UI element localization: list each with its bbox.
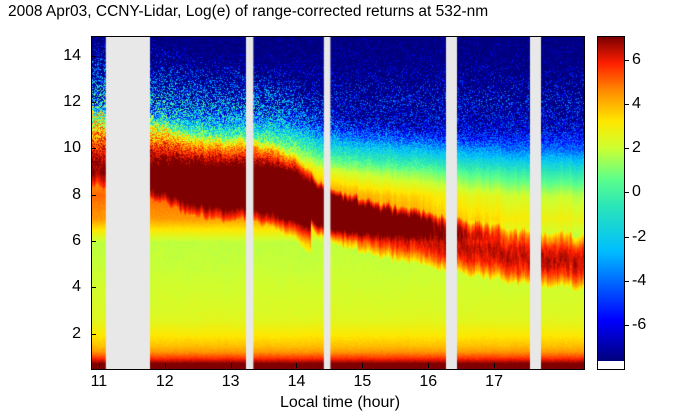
- colorbar-tick-mark: [624, 237, 629, 238]
- y-axis-tick-label: 14: [51, 48, 81, 64]
- x-axis-tick-mark: [231, 363, 232, 368]
- colorbar: [597, 36, 625, 370]
- x-axis-tick-label: 16: [408, 374, 448, 390]
- x-axis-tick-mark: [428, 363, 429, 368]
- y-axis-tick-label: 2: [51, 326, 81, 342]
- x-axis-tick-mark: [362, 363, 363, 368]
- colorbar-tick-label: 0: [632, 184, 666, 200]
- x-axis-tick-mark: [296, 363, 297, 368]
- colorbar-gradient: [598, 37, 624, 361]
- lidar-figure: 2008 Apr03, CCNY-Lidar, Log(e) of range-…: [0, 0, 700, 420]
- colorbar-tick-mark: [624, 104, 629, 105]
- colorbar-tick-label: -2: [632, 229, 666, 245]
- x-axis-tick-label: 15: [342, 374, 382, 390]
- colorbar-tick-mark: [624, 148, 629, 149]
- y-axis-tick-mark: [91, 102, 96, 103]
- x-axis-tick-label: 13: [211, 374, 251, 390]
- y-axis-tick-mark: [91, 241, 96, 242]
- y-axis-tick-label: 6: [51, 233, 81, 249]
- x-axis-label: Local time (hour): [180, 394, 500, 412]
- x-axis-tick-label: 17: [474, 374, 514, 390]
- y-axis-tick-mark: [91, 148, 96, 149]
- x-axis-tick-label: 12: [145, 374, 185, 390]
- y-axis-tick-mark: [91, 195, 96, 196]
- heatmap-plot-area: [91, 36, 585, 370]
- colorbar-tick-label: 4: [632, 96, 666, 112]
- y-axis-tick-label: 10: [51, 140, 81, 156]
- y-axis-tick-label: 8: [51, 187, 81, 203]
- y-axis-tick-label: 12: [51, 94, 81, 110]
- colorbar-white-footer: [598, 361, 624, 369]
- colorbar-tick-label: -4: [632, 273, 666, 289]
- lidar-heatmap-canvas: [92, 37, 584, 369]
- colorbar-tick-label: 2: [632, 140, 666, 156]
- figure-title: 2008 Apr03, CCNY-Lidar, Log(e) of range-…: [8, 2, 692, 22]
- y-axis-tick-label: 4: [51, 279, 81, 295]
- colorbar-tick-mark: [624, 192, 629, 193]
- colorbar-tick-label: 6: [632, 52, 666, 68]
- x-axis-tick-mark: [494, 363, 495, 368]
- colorbar-tick-mark: [624, 60, 629, 61]
- y-axis-tick-mark: [91, 334, 96, 335]
- x-axis-tick-label: 14: [276, 374, 316, 390]
- x-axis-tick-label: 11: [79, 374, 119, 390]
- x-axis-tick-mark: [99, 363, 100, 368]
- colorbar-tick-mark: [624, 281, 629, 282]
- x-axis-tick-mark: [165, 363, 166, 368]
- y-axis-tick-mark: [91, 56, 96, 57]
- y-axis-tick-mark: [91, 287, 96, 288]
- colorbar-tick-label: -6: [632, 317, 666, 333]
- colorbar-tick-mark: [624, 325, 629, 326]
